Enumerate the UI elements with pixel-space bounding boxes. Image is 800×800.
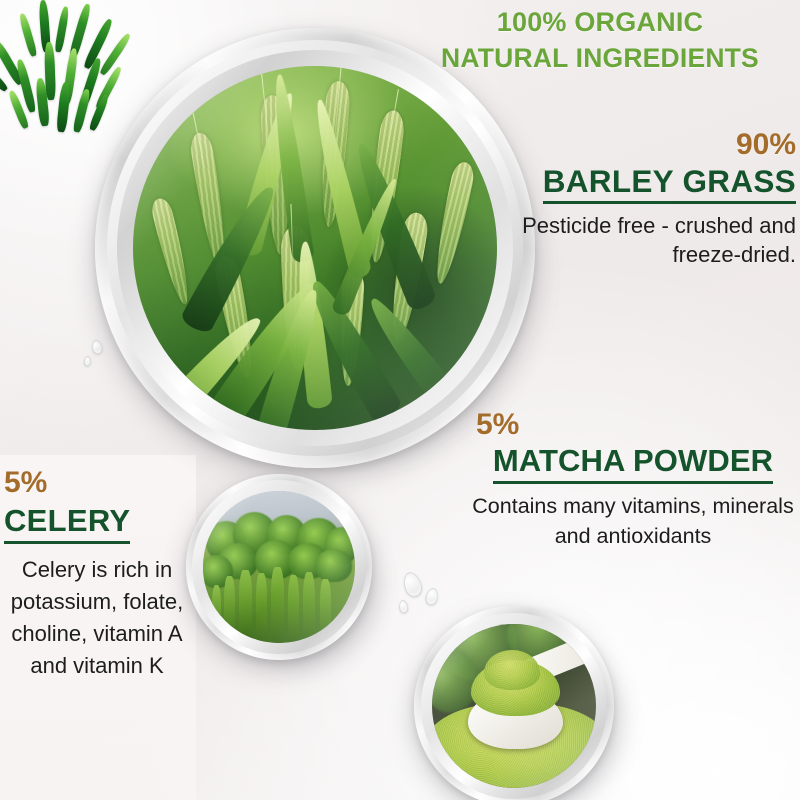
celery-name: CELERY <box>4 502 130 544</box>
barley-grass-jar <box>95 28 535 468</box>
celery-description: Celery is rich in potassium, folate, cho… <box>4 554 190 682</box>
water-droplet-icon <box>91 339 104 355</box>
celery-percent: 5% <box>4 466 190 500</box>
headline-line-1: 100% ORGANIC <box>400 0 800 40</box>
water-droplet-icon <box>83 356 91 367</box>
barley-grass-name: BARLEY GRASS <box>543 162 796 204</box>
ingredient-block-barley-grass: 90% BARLEY GRASS Pesticide free - crushe… <box>496 128 796 269</box>
barley-grass-percent: 90% <box>496 128 796 162</box>
headline-line-2: NATURAL INGREDIENTS <box>400 40 800 76</box>
barley-grass-photo <box>133 66 497 430</box>
celery-photo <box>203 491 355 643</box>
matcha-powder-description: Contains many vitamins, minerals and ant… <box>468 491 798 551</box>
ingredient-infographic: 100% ORGANIC NATURAL INGREDIENTS 90% BAR… <box>0 0 800 800</box>
matcha-powder-name: MATCHA POWDER <box>493 442 773 484</box>
ingredient-block-matcha-powder: 5% MATCHA POWDER Contains many vitamins,… <box>468 408 798 551</box>
headline: 100% ORGANIC NATURAL INGREDIENTS <box>400 0 800 76</box>
matcha-photo <box>432 624 596 788</box>
ingredient-block-celery: 5% CELERY Celery is rich in potassium, f… <box>4 466 190 682</box>
matcha-powder-percent: 5% <box>468 408 798 442</box>
celery-jar <box>186 474 372 660</box>
matcha-powder-jar <box>414 606 614 800</box>
barley-grass-description: Pesticide free - crushed and freeze-drie… <box>496 211 796 269</box>
